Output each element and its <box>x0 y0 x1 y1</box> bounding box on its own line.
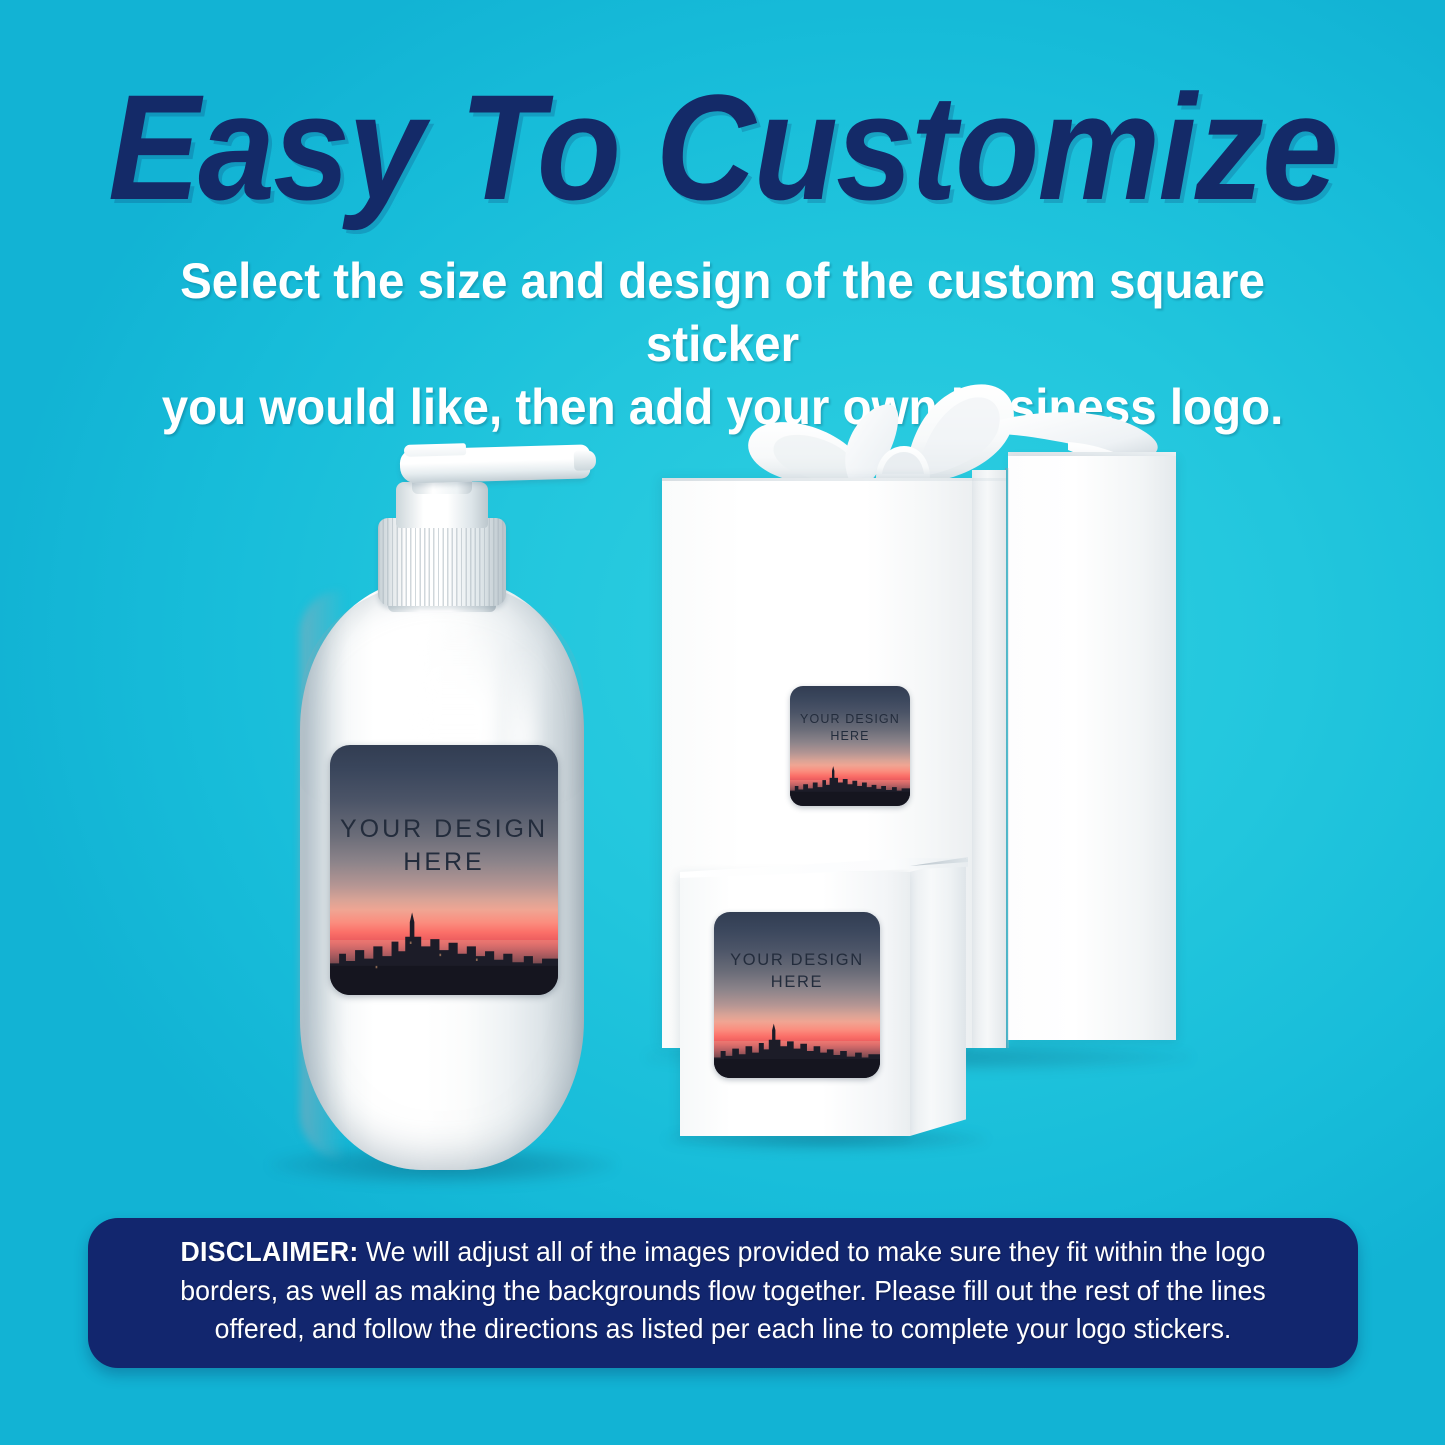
sticker-label-text: YOUR DESIGN HERE <box>714 950 880 994</box>
gift-box-back-panel <box>1008 456 1176 1040</box>
sticker-label-text: YOUR DESIGN HERE <box>790 711 910 744</box>
sticker-line-1: YOUR DESIGN <box>340 815 548 843</box>
gift-box-side-panel <box>972 470 1006 1048</box>
sticker-art-skyline <box>790 765 910 806</box>
sticker-line-1: YOUR DESIGN <box>730 951 864 969</box>
sticker-art-skyline <box>714 1022 880 1078</box>
bottle-ribbed-collar <box>378 518 506 606</box>
sticker-label-text: YOUR DESIGN HERE <box>330 813 558 879</box>
sticker-on-gift-box[interactable]: YOUR DESIGN HERE <box>790 686 910 806</box>
disclaimer-banner: DISCLAIMER: We will adjust all of the im… <box>88 1218 1358 1368</box>
sticker-line-2: HERE <box>830 729 869 743</box>
sticker-art-skyline <box>330 910 558 995</box>
disclaimer-text: DISCLAIMER: We will adjust all of the im… <box>136 1233 1310 1349</box>
gift-box-lid-seam <box>662 478 1006 481</box>
pump-bottle: YOUR DESIGN HERE <box>292 430 592 1170</box>
small-box-side-panel <box>910 858 966 1136</box>
small-window-box: YOUR DESIGN HERE <box>672 858 972 1148</box>
sticker-on-bottle[interactable]: YOUR DESIGN HERE <box>330 745 558 995</box>
sticker-on-small-box[interactable]: YOUR DESIGN HERE <box>714 912 880 1078</box>
pump-nozzle-lip <box>404 443 466 457</box>
disclaimer-label: DISCLAIMER: <box>180 1236 358 1267</box>
sticker-line-2: HERE <box>771 973 823 991</box>
sticker-line-1: YOUR DESIGN <box>800 712 900 726</box>
sticker-line-2: HERE <box>403 848 484 876</box>
promo-canvas: Easy To Customize Select the size and de… <box>0 0 1445 1445</box>
